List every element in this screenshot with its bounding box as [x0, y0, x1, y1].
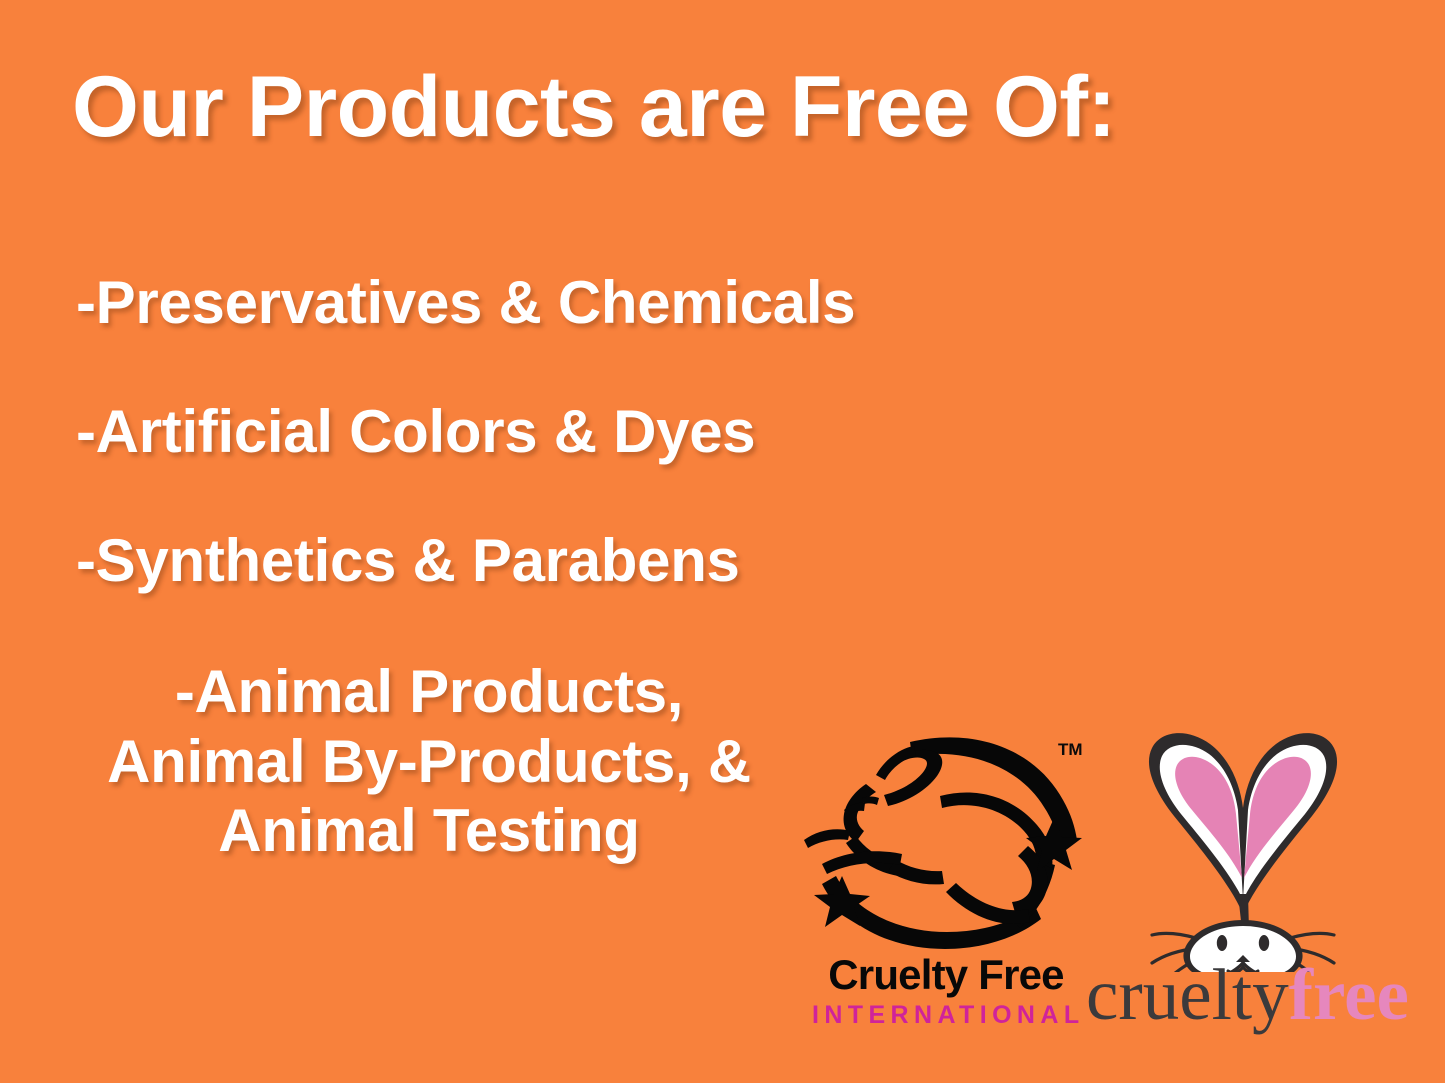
peta-cruelty-free-wordmark: crueltyfree	[1086, 958, 1426, 1031]
cruelty-free-international-logo: TM Cruelty Free INTERNATIONAL	[786, 726, 1086, 1056]
slide-canvas: Our Products are Free Of: -Preservatives…	[0, 0, 1445, 1083]
list-item: -Synthetics & Parabens	[76, 528, 1016, 594]
peta-cruelty-free-logo: crueltyfree	[1086, 726, 1426, 1056]
logo-row: TM Cruelty Free INTERNATIONAL	[786, 726, 1426, 1056]
page-title: Our Products are Free Of:	[72, 64, 1172, 150]
cfi-brand-name: Cruelty Free	[812, 954, 1080, 996]
list-item: -Artificial Colors & Dyes	[76, 399, 1016, 465]
cruelty-free-international-wordmark: Cruelty Free INTERNATIONAL	[812, 954, 1080, 1031]
list-item: -Preservatives & Chemicals	[76, 270, 1016, 336]
leaping-rabbit-icon	[792, 726, 1082, 954]
peta-word-cruelty: cruelty	[1086, 954, 1289, 1035]
trademark-symbol: TM	[1058, 740, 1083, 760]
list-item: -Animal Products, Animal By-Products, & …	[76, 657, 782, 866]
cfi-brand-subtitle: INTERNATIONAL	[812, 1000, 1080, 1031]
bunny-heart-ears-icon	[1118, 724, 1368, 972]
peta-word-free: free	[1289, 954, 1409, 1035]
